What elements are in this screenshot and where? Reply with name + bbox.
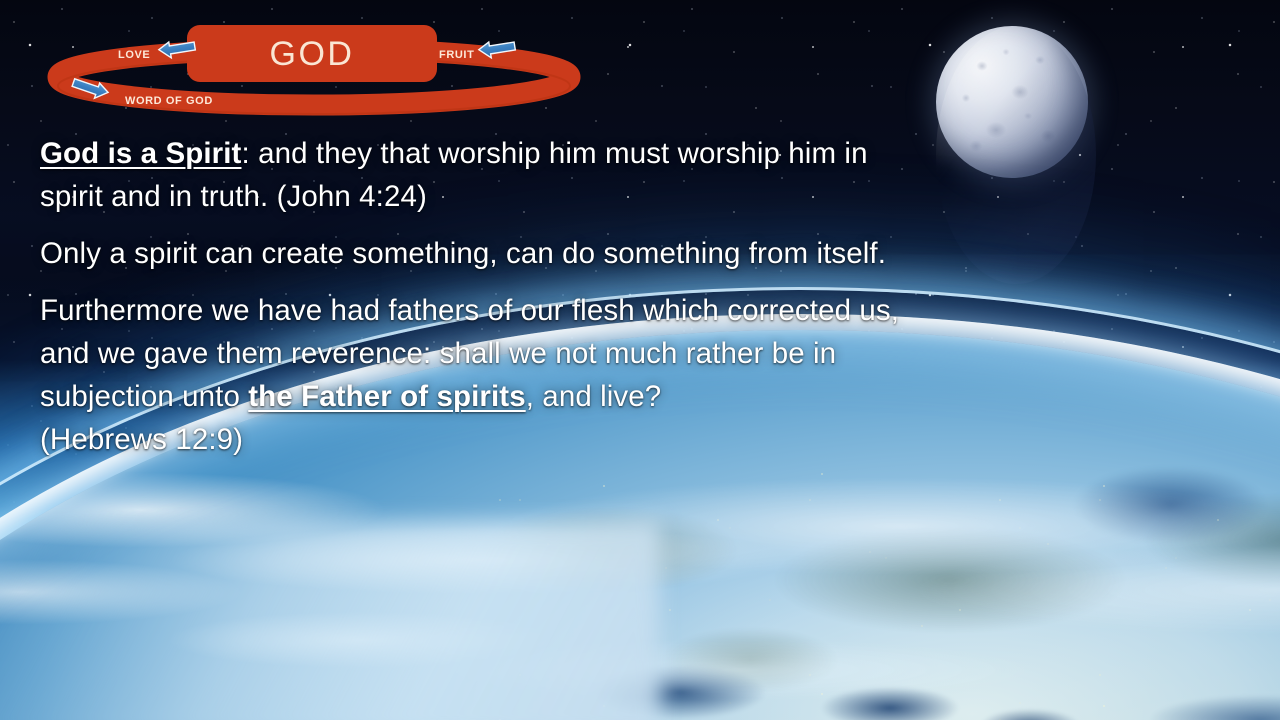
love-label: LOVE [118, 49, 150, 61]
paragraph-hebrews-reference: (Hebrews 12:9) [40, 423, 243, 456]
moon [936, 26, 1096, 284]
emphasis-father-of-spirits: the Father of spirits [248, 380, 525, 413]
earth-cloud-haze [0, 520, 660, 720]
emphasis-god-is-a-spirit: God is a Spirit [40, 137, 241, 170]
paragraph-hebrews-12-9: Furthermore we have had fathers of our f… [40, 289, 920, 461]
fruit-label: FRUIT [439, 49, 474, 61]
slide-canvas: GOD LOVE FRUIT WORD OF GOD God is a Spir… [0, 0, 1280, 720]
paragraph-only-a-spirit: Only a spirit can create something, can … [40, 232, 920, 275]
paragraph-john-4-24: God is a Spirit: and they that worship h… [40, 132, 920, 218]
god-cycle-diagram: GOD LOVE FRUIT WORD OF GOD [46, 16, 586, 120]
word-of-god-label: WORD OF GOD [125, 95, 213, 107]
god-label: GOD [270, 35, 355, 73]
scripture-text-block: God is a Spirit: and they that worship h… [40, 132, 920, 475]
moon-shading [936, 26, 1096, 284]
paragraph-hebrews-tail: , and live? [526, 380, 662, 413]
